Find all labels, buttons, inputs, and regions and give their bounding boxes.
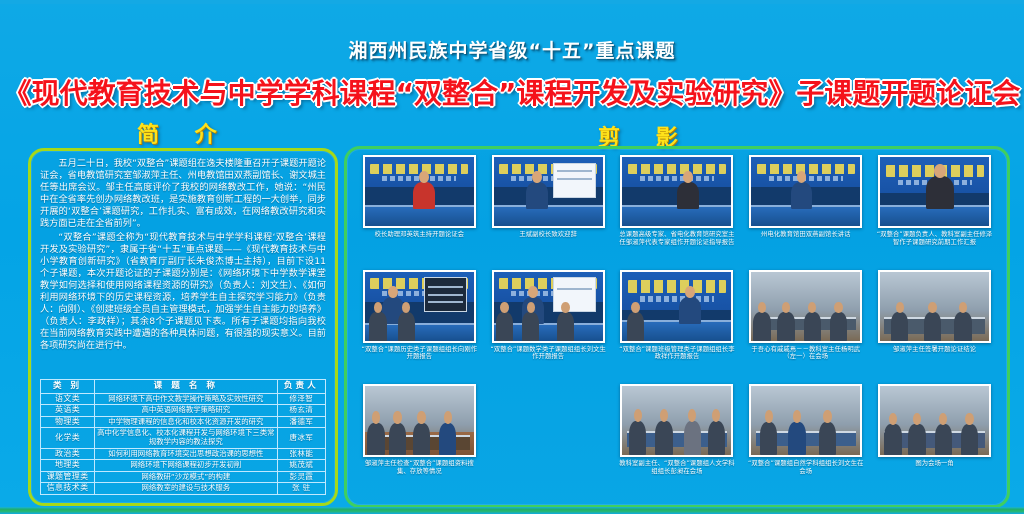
poster-subtitle: 湘西州民族中学省级“十五”重点课题 — [0, 36, 1024, 63]
table-row: 语文类 网络环境下高中作文教学操作策略及实效性研究 修泽智 — [41, 393, 326, 405]
photo-cell: 教科室副主任、“双整合”课题组人文学科组组长彭昶在会场 — [613, 384, 742, 475]
row-topic: 网络环境下高中作文教学操作策略及实效性研究 — [95, 393, 277, 405]
photo-thumbnail — [878, 384, 991, 457]
subjects-table: 类 别 课 题 名 称 负责人 语文类 网络环境下高中作文教学操作策略及实效性研… — [40, 379, 326, 495]
photo-thumbnail — [620, 155, 733, 228]
row-category: 政治类 — [41, 448, 95, 460]
table-row: 英语类 高中英语网络教学策略研究 杨玄清 — [41, 405, 326, 417]
photo-cell: “双整合”课题负责人、教科室副主任修泽智作子课题研究前期工作汇报 — [870, 155, 999, 246]
row-leader: 姚茂斌 — [277, 460, 325, 472]
photo-thumbnail — [363, 270, 476, 343]
row-leader: 张 驻 — [277, 483, 325, 495]
photo-thumbnail — [620, 384, 733, 457]
photo-cell: 州电化教育馆田双燕副馆长讲话 — [741, 155, 870, 239]
top-edge-strip — [0, 0, 1024, 4]
photo-caption: “双整合”课题组自然学科组组长刘文生在会场 — [747, 460, 865, 475]
row-topic: 高中英语网络教学策略研究 — [95, 405, 277, 417]
photo-caption: 教科室副主任、“双整合”课题组人文学科组组长彭昶在会场 — [618, 460, 736, 475]
row-category: 物理类 — [41, 416, 95, 428]
photo-caption: 图为会场一角 — [876, 460, 994, 468]
photo-cell: 于吾心有戚戚焉－－教科室主任杨明武（左一）在会场 — [741, 270, 870, 361]
row-category: 化学类 — [41, 428, 95, 448]
photo-cell: 校长助理邓英筑主持开题论证会 — [355, 155, 484, 239]
photo-cell: 邹淑萍主任检查“双整合”课题组资料搜集、存放等情况 — [355, 384, 484, 475]
photo-cell: “双整合”课题组自然学科组组长刘文生在会场 — [741, 384, 870, 475]
photo-caption: “双整合”课题班级管理类子课题组组长李政祥作开题报告 — [618, 346, 736, 361]
photo-caption: 于吾心有戚戚焉－－教科室主任杨明武（左一）在会场 — [747, 346, 865, 361]
photo-cell: “双整合”课题班级管理类子课题组组长李政祥作开题报告 — [613, 270, 742, 361]
row-leader: 唐冰军 — [277, 428, 325, 448]
table-row: 信息技术类 网络教室的建设与技术服务 张 驻 — [41, 483, 326, 495]
row-category: 语文类 — [41, 393, 95, 405]
photo-cell: 图为会场一角 — [870, 384, 999, 468]
row-topic: 如何利用网络教育环境突出思想政治课的思想性 — [95, 448, 277, 460]
photo-caption: 王斌副校长致欢迎辞 — [489, 231, 607, 239]
photo-grid-row: 校长助理邓英筑主持开题论证会 王斌副校长致欢迎辞 — [355, 155, 999, 270]
row-category: 课题管理类 — [41, 471, 95, 483]
photo-cell: 总课题高级专家、省电化教育馆研究室主任邹淑萍代表专家组作开题论证指导报告 — [613, 155, 742, 246]
photo-thumbnail — [492, 270, 605, 343]
photo-thumbnail — [620, 270, 733, 343]
photo-caption: 总课题高级专家、省电化教育馆研究室主任邹淑萍代表专家组作开题论证指导报告 — [618, 231, 736, 246]
table-row: 化学类 高中化学信息化、校本化课程开发与网络环境下三类常规教学内容的教法探究 唐… — [41, 428, 326, 448]
photo-caption: 校长助理邓英筑主持开题论证会 — [360, 231, 478, 239]
intro-paragraph-2: “双整合”课题全称为“现代教育技术与中学学科课程‘双整合’课程开发及实验研究”，… — [40, 232, 326, 353]
row-leader: 潘德军 — [277, 416, 325, 428]
row-category: 地理类 — [41, 460, 95, 472]
photo-cell: 王斌副校长致欢迎辞 — [484, 155, 613, 239]
poster-board: 湘西州民族中学省级“十五”重点课题 《现代教育技术与中学学科课程“双整合”课程开… — [0, 0, 1024, 514]
table-row: 物理类 中学物理课程的信息化和校本化资源开发的研究 潘德军 — [41, 416, 326, 428]
poster-main-title: 《现代教育技术与中学学科课程“双整合”课程开发及实验研究》子课题开题论证会 — [0, 72, 1024, 112]
row-topic: 网络教研“沙龙模式”的构建 — [95, 471, 277, 483]
photo-caption: “双整合”课题数学类子课题组组长刘文生作开题报告 — [489, 346, 607, 361]
table-row: 课题管理类 网络教研“沙龙模式”的构建 彭灵霞 — [41, 471, 326, 483]
photo-thumbnail — [749, 384, 862, 457]
bottom-edge-strip — [0, 507, 1024, 514]
photo-grid: 校长助理邓英筑主持开题论证会 王斌副校长致欢迎辞 — [355, 155, 999, 499]
photo-caption: 州电化教育馆田双燕副馆长讲话 — [747, 231, 865, 239]
photo-thumbnail — [363, 155, 476, 228]
row-leader: 彭灵霞 — [277, 471, 325, 483]
table-header-row: 类 别 课 题 名 称 负责人 — [41, 380, 326, 394]
photo-cell: “双整合”课题数学类子课题组组长刘文生作开题报告 — [484, 270, 613, 361]
row-category: 信息技术类 — [41, 483, 95, 495]
photo-caption: “双整合”课题负责人、教科室副主任修泽智作子课题研究前期工作汇报 — [876, 231, 994, 246]
photo-thumbnail — [878, 270, 991, 343]
intro-text: 五月二十日，我校“双整合”课题组在逸夫楼隆重召开子课题开题论证会，省电教馆研究室… — [40, 158, 326, 353]
row-leader: 修泽智 — [277, 393, 325, 405]
photo-thumbnail — [749, 270, 862, 343]
row-leader: 杨玄清 — [277, 405, 325, 417]
photo-gallery-panel: 校长助理邓英筑主持开题论证会 王斌副校长致欢迎辞 — [344, 146, 1010, 508]
intro-paragraph-1: 五月二十日，我校“双整合”课题组在逸夫楼隆重召开子课题开题论证会，省电教馆研究室… — [40, 158, 326, 231]
table-row: 地理类 网络环境下网络课程初步开发初削 姚茂斌 — [41, 460, 326, 472]
row-category: 英语类 — [41, 405, 95, 417]
row-topic: 网络环境下网络课程初步开发初削 — [95, 460, 277, 472]
photo-thumbnail — [363, 384, 476, 457]
row-topic: 网络教室的建设与技术服务 — [95, 483, 277, 495]
photo-caption: 邹淑萍主任签署开题论证结论 — [876, 346, 994, 354]
intro-panel: 五月二十日，我校“双整合”课题组在逸夫楼隆重召开子课题开题论证会，省电教馆研究室… — [28, 148, 338, 506]
table-row: 政治类 如何利用网络教育环境突出思想政治课的思想性 张林能 — [41, 448, 326, 460]
photo-cell-empty — [484, 384, 613, 387]
photo-grid-row: 邹淑萍主任检查“双整合”课题组资料搜集、存放等情况 教科室副主任、“双整合”课题… — [355, 384, 999, 499]
section-heading-intro: 简 介 — [137, 117, 231, 149]
row-topic: 高中化学信息化、校本化课程开发与网络环境下三类常规教学内容的教法探究 — [95, 428, 277, 448]
row-topic: 中学物理课程的信息化和校本化资源开发的研究 — [95, 416, 277, 428]
photo-grid-row: “双整合”课题历史类子课题组组长向刚作开题报告 “双整合”课题数学类子课题组组长… — [355, 270, 999, 385]
photo-caption: 邹淑萍主任检查“双整合”课题组资料搜集、存放等情况 — [360, 460, 478, 475]
photo-cell: 邹淑萍主任签署开题论证结论 — [870, 270, 999, 354]
table-header-category: 类 别 — [41, 380, 95, 394]
photo-thumbnail — [492, 155, 605, 228]
subjects-table-wrapper: 类 别 课 题 名 称 负责人 语文类 网络环境下高中作文教学操作策略及实效性研… — [40, 379, 326, 495]
photo-thumbnail — [749, 155, 862, 228]
photo-caption: “双整合”课题历史类子课题组组长向刚作开题报告 — [360, 346, 478, 361]
photo-thumbnail — [878, 155, 991, 228]
subjects-table-body: 语文类 网络环境下高中作文教学操作策略及实效性研究 修泽智 英语类 高中英语网络… — [41, 393, 326, 494]
photo-cell: “双整合”课题历史类子课题组组长向刚作开题报告 — [355, 270, 484, 361]
table-header-topic: 课 题 名 称 — [95, 380, 277, 394]
table-header-leader: 负责人 — [277, 380, 325, 394]
row-leader: 张林能 — [277, 448, 325, 460]
